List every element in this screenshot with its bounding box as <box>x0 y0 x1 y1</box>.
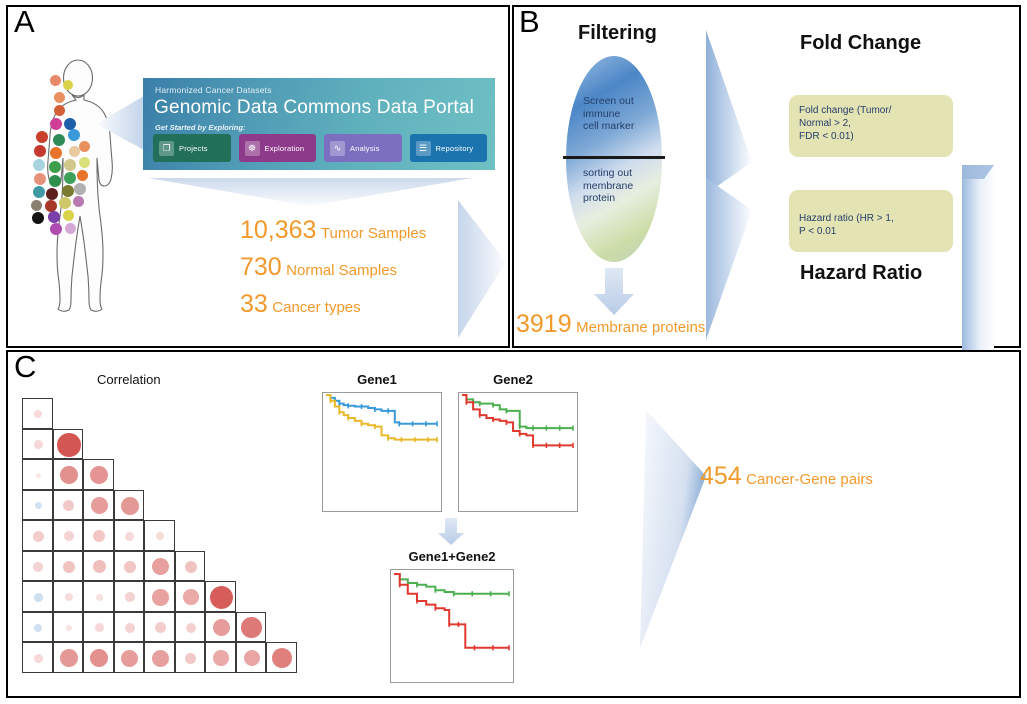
fold-change-box-text: Fold change (Tumor/Normal > 2,FDR < 0.01… <box>799 104 943 143</box>
fold-change-title: Fold Change <box>800 32 921 55</box>
gdc-button-projects[interactable]: ❐Projects <box>153 134 231 162</box>
correlation-cell <box>83 612 114 643</box>
correlation-dot <box>93 560 106 573</box>
cancer-site-dot <box>64 159 76 171</box>
gdc-button-analysis[interactable]: ∿Analysis <box>324 134 402 162</box>
molecule-icon: ☸ <box>245 141 260 156</box>
correlation-cell <box>53 520 84 551</box>
gdc-button-exploration[interactable]: ☸Exploration <box>239 134 317 162</box>
panel-c-letter: C <box>14 351 36 382</box>
cancer-site-dot <box>50 118 62 130</box>
gdc-banner-title: Genomic Data Commons Data Portal <box>154 97 474 119</box>
gdc-button-repository[interactable]: ☰Repository <box>410 134 488 162</box>
gdc-button-row: ❐Projects☸Exploration∿Analysis☰Repositor… <box>153 134 487 162</box>
correlation-cell <box>144 642 175 673</box>
correlation-dot <box>33 562 43 572</box>
cancer-site-dot <box>48 211 60 223</box>
document-icon: ❐ <box>159 141 174 156</box>
stat-label-pairs: Cancer-Gene pairs <box>746 471 873 488</box>
cancer-site-dot <box>50 223 62 235</box>
correlation-dot <box>64 531 74 541</box>
cancer-site-dot <box>49 161 61 173</box>
km-curve-high <box>462 395 573 428</box>
gdc-button-label: Repository <box>436 144 474 153</box>
database-icon: ☰ <box>416 141 431 156</box>
correlation-dot <box>60 649 78 667</box>
correlation-dot <box>155 622 166 633</box>
correlation-cell <box>22 612 53 643</box>
correlation-dot <box>272 648 292 668</box>
km-curve-high <box>394 574 509 594</box>
correlation-dot <box>60 466 78 484</box>
correlation-dot <box>35 502 42 509</box>
km-combined-plot <box>390 569 514 683</box>
km-gene1-plus-gene2-curves <box>391 570 513 682</box>
ellipse-top-text: Screen outimmunecell marker <box>583 95 634 133</box>
gdc-portal-banner: Harmonized Cancer Datasets Genomic Data … <box>143 78 495 170</box>
correlation-cell <box>53 551 84 582</box>
km-curve-low <box>394 574 509 648</box>
cancer-site-dot <box>54 92 65 103</box>
correlation-cell <box>22 581 53 612</box>
cancer-site-dot <box>79 157 90 168</box>
cancer-site-dot <box>62 185 74 197</box>
correlation-dot <box>36 473 41 478</box>
correlation-cell <box>22 551 53 582</box>
km-gene1-title: Gene1 <box>322 372 432 387</box>
correlation-cell <box>22 398 53 429</box>
correlation-cell <box>83 459 114 490</box>
correlation-cell <box>114 581 145 612</box>
correlation-cell <box>114 490 145 521</box>
correlation-dot <box>152 650 169 667</box>
correlation-cell <box>83 490 114 521</box>
analysis-icon: ∿ <box>330 141 345 156</box>
correlation-dot <box>90 649 108 667</box>
correlation-dot <box>185 653 196 664</box>
correlation-cell <box>175 612 206 643</box>
filtering-ellipse <box>566 56 662 262</box>
correlation-dot <box>244 650 260 666</box>
correlation-dot <box>34 654 43 663</box>
correlation-cell <box>53 642 84 673</box>
stat-number-membrane: 3919 <box>516 310 572 338</box>
km-gene1-plot <box>322 392 442 512</box>
cancer-site-dot <box>59 197 71 209</box>
km-combined-title: Gene1+Gene2 <box>390 549 514 564</box>
cancer-site-dot <box>74 183 86 195</box>
correlation-cell <box>83 520 114 551</box>
arrow-down-filtering-icon <box>593 268 635 316</box>
correlation-cell <box>22 642 53 673</box>
correlation-cell <box>205 581 236 612</box>
gdc-button-label: Exploration <box>265 144 305 153</box>
correlation-cell <box>22 429 53 460</box>
cancer-site-dot <box>36 131 48 143</box>
correlation-cell <box>53 581 84 612</box>
correlation-cell <box>144 581 175 612</box>
km-gene2-plot <box>458 392 578 512</box>
correlation-dot <box>93 530 105 542</box>
correlation-cell <box>22 490 53 521</box>
cancer-site-dot <box>63 210 74 221</box>
correlation-dot <box>152 558 169 575</box>
correlation-dot <box>96 594 103 601</box>
gdc-banner-subtitle: Harmonized Cancer Datasets <box>155 85 272 95</box>
correlation-dot <box>65 593 73 601</box>
correlation-dot <box>121 650 138 667</box>
cancer-site-dot <box>68 129 80 141</box>
correlation-cell <box>144 551 175 582</box>
cancer-site-dot <box>49 175 61 187</box>
stat-label-normal: Normal Samples <box>286 262 397 279</box>
cancer-site-dot <box>73 196 84 207</box>
correlation-dot <box>213 619 230 636</box>
cancer-site-dot <box>69 146 80 157</box>
correlation-cell <box>236 612 267 643</box>
cancer-site-dot <box>77 170 88 181</box>
stat-row-pairs: 454 Cancer-Gene pairs <box>700 462 873 491</box>
cancer-site-dot <box>32 212 44 224</box>
cancer-site-dot <box>33 186 45 198</box>
stat-row-tumor: 10,363 Tumor Samples <box>240 216 426 245</box>
correlation-cell <box>53 490 84 521</box>
cancer-site-dot <box>50 75 61 86</box>
correlation-cell <box>175 581 206 612</box>
filtering-title: Filtering <box>578 22 657 45</box>
correlation-cell <box>114 612 145 643</box>
arrow-down-wide-icon <box>148 178 472 208</box>
cancer-site-dot <box>53 134 65 146</box>
correlation-dot <box>125 592 135 602</box>
panel-a-letter: A <box>14 6 35 37</box>
correlation-cell <box>205 612 236 643</box>
correlation-cell <box>236 642 267 673</box>
cancer-site-dot <box>64 172 76 184</box>
gdc-get-started-label: Get Started by Exploring: <box>155 123 245 132</box>
correlation-dot <box>34 440 43 449</box>
correlation-cell <box>53 459 84 490</box>
correlation-dot <box>185 561 197 573</box>
hazard-ratio-title: Hazard Ratio <box>800 262 922 285</box>
cancer-site-dot <box>79 141 90 152</box>
arrow-to-body-icon <box>92 88 144 160</box>
cancer-site-dot <box>34 145 46 157</box>
cancer-site-dot <box>34 173 46 185</box>
correlation-cell <box>114 551 145 582</box>
correlation-dot <box>210 586 233 609</box>
cancer-site-dot <box>50 147 62 159</box>
correlation-dot <box>213 650 229 666</box>
correlation-title: Correlation <box>97 372 161 387</box>
correlation-dot <box>63 561 75 573</box>
correlation-cell <box>83 581 114 612</box>
correlation-dot <box>33 531 44 542</box>
correlation-cell <box>53 612 84 643</box>
correlation-dot <box>95 623 104 632</box>
correlation-dot <box>66 625 72 631</box>
double-chevron-icon <box>706 30 754 342</box>
arrow-down-km-icon <box>437 518 465 546</box>
stat-number-pairs: 454 <box>700 462 742 490</box>
correlation-cell <box>266 642 297 673</box>
stat-label-tumor: Tumor Samples <box>321 225 426 242</box>
panel-b-letter: B <box>519 6 540 37</box>
arrow-a-to-b-icon <box>458 200 508 340</box>
correlation-cell <box>22 459 53 490</box>
correlation-cell <box>22 520 53 551</box>
correlation-cell <box>175 551 206 582</box>
stat-row-normal: 730 Normal Samples <box>240 253 397 282</box>
correlation-dot <box>125 532 134 541</box>
correlation-dot <box>34 624 42 632</box>
gdc-button-label: Analysis <box>350 144 380 153</box>
correlation-dot <box>91 497 108 514</box>
km-curve-low <box>326 395 437 440</box>
ellipse-bottom-text: sorting outmembraneprotein <box>583 167 633 205</box>
gdc-button-label: Projects <box>179 144 208 153</box>
cancer-site-dot <box>54 105 65 116</box>
cancer-site-dot <box>31 200 42 211</box>
correlation-cell <box>175 642 206 673</box>
correlation-dot <box>124 561 136 573</box>
correlation-dot <box>34 410 42 418</box>
correlation-dot <box>121 497 139 515</box>
correlation-cell <box>114 642 145 673</box>
correlation-cell <box>83 551 114 582</box>
correlation-dot <box>34 593 43 602</box>
km-gene1-curves <box>323 393 441 511</box>
figure-root: A Harmonized Cancer Datasets Genomic Dat… <box>0 0 1027 704</box>
km-gene2-title: Gene2 <box>458 372 568 387</box>
correlation-dot <box>57 433 81 457</box>
correlation-cell <box>205 642 236 673</box>
correlation-cell <box>53 429 84 460</box>
correlation-dot <box>152 589 169 606</box>
cancer-site-dot <box>63 80 73 90</box>
stat-row-cancertypes: 33 Cancer types <box>240 290 361 319</box>
fold-change-box: Fold change (Tumor/Normal > 2,FDR < 0.01… <box>789 95 953 157</box>
km-gene2-curves <box>459 393 577 511</box>
correlation-dot <box>186 623 196 633</box>
correlation-cell <box>83 642 114 673</box>
cancer-site-dot <box>46 188 58 200</box>
hazard-ratio-box-text: Hazard ratio (HR > 1,P < 0.01 <box>799 199 943 238</box>
correlation-dot <box>63 500 74 511</box>
correlation-cell <box>114 520 145 551</box>
cancer-site-dot <box>33 159 45 171</box>
correlation-dot <box>241 617 262 638</box>
correlation-dot <box>183 589 199 605</box>
stat-label-membrane: Membrane proteins <box>576 319 705 336</box>
km-curve-high <box>326 395 437 424</box>
cancer-site-dot <box>65 223 76 234</box>
stat-number-cancertypes: 33 <box>240 290 268 318</box>
hazard-ratio-box: Hazard ratio (HR > 1,P < 0.01 <box>789 190 953 252</box>
arrow-c-to-result-icon <box>588 404 708 654</box>
correlation-dot <box>156 532 164 540</box>
stat-number-tumor: 10,363 <box>240 216 316 244</box>
stat-row-membrane: 3919 Membrane proteins <box>516 310 705 339</box>
correlation-dot <box>90 466 108 484</box>
correlation-cell <box>144 520 175 551</box>
stat-label-cancertypes: Cancer types <box>272 299 360 316</box>
stat-number-normal: 730 <box>240 253 282 281</box>
correlation-cell <box>144 612 175 643</box>
ellipse-divider <box>563 156 665 159</box>
correlation-dot <box>125 623 135 633</box>
